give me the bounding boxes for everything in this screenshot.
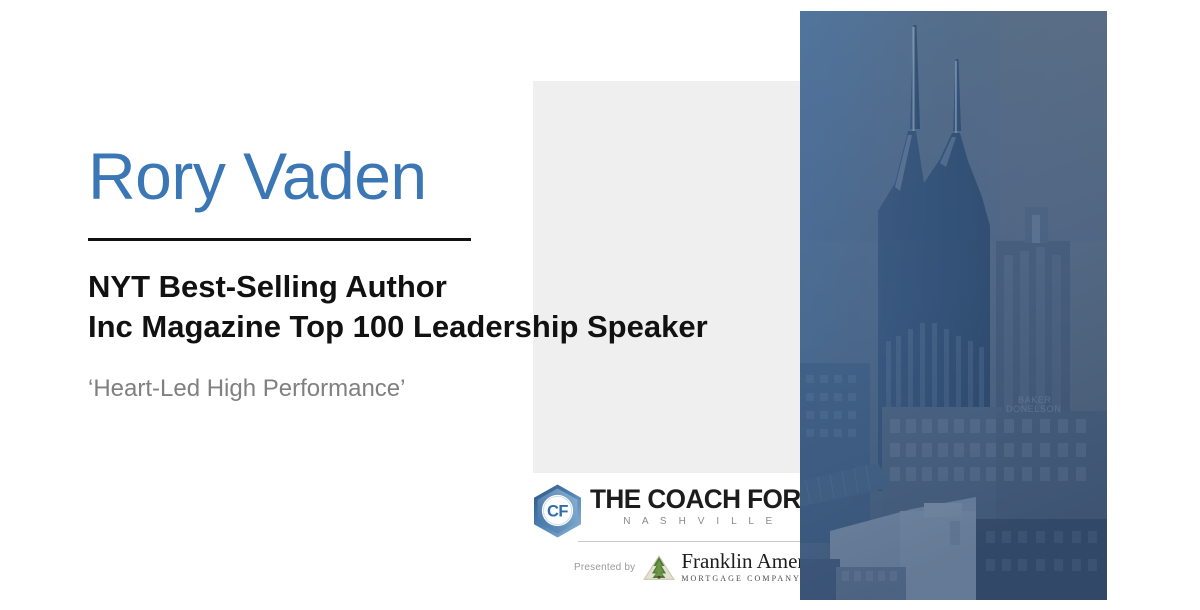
credential-line-1: NYT Best-Selling Author [88, 267, 808, 307]
forum-wordmark: THE COACH FORUM N A S H V I L L E [590, 484, 806, 528]
forum-subtitle: N A S H V I L L E [590, 515, 806, 528]
nashville-skyline-photo: BAKER DONELSON [800, 11, 1107, 600]
speaker-tagline: ‘Heart-Led High Performance’ [88, 375, 405, 404]
franklin-american-tree-icon [642, 553, 676, 581]
presented-by-label: Presented by [574, 562, 635, 573]
sponsor-row: Presented by Franklin American MORTGAGE … [574, 549, 809, 585]
cf-hexagon-badge-icon: CF [530, 483, 585, 538]
svg-text:CF: CF [547, 502, 568, 520]
credential-line-2: Inc Magazine Top 100 Leadership Speaker [88, 307, 808, 347]
credentials-block: NYT Best-Selling Author Inc Magazine Top… [88, 267, 808, 347]
logo-divider [578, 541, 806, 542]
presentation-slide: Rory Vaden NYT Best-Selling Author Inc M… [0, 0, 1200, 610]
forum-title: THE COACH FORUM [590, 484, 800, 514]
divider-rule [88, 238, 471, 241]
coach-forum-logo: CF THE COACH FORUM N A S H V I L L E Pre… [528, 481, 808, 593]
speaker-name: Rory Vaden [88, 143, 427, 209]
logo-primary-row: CF THE COACH FORUM N A S H V I L L E [528, 481, 808, 539]
